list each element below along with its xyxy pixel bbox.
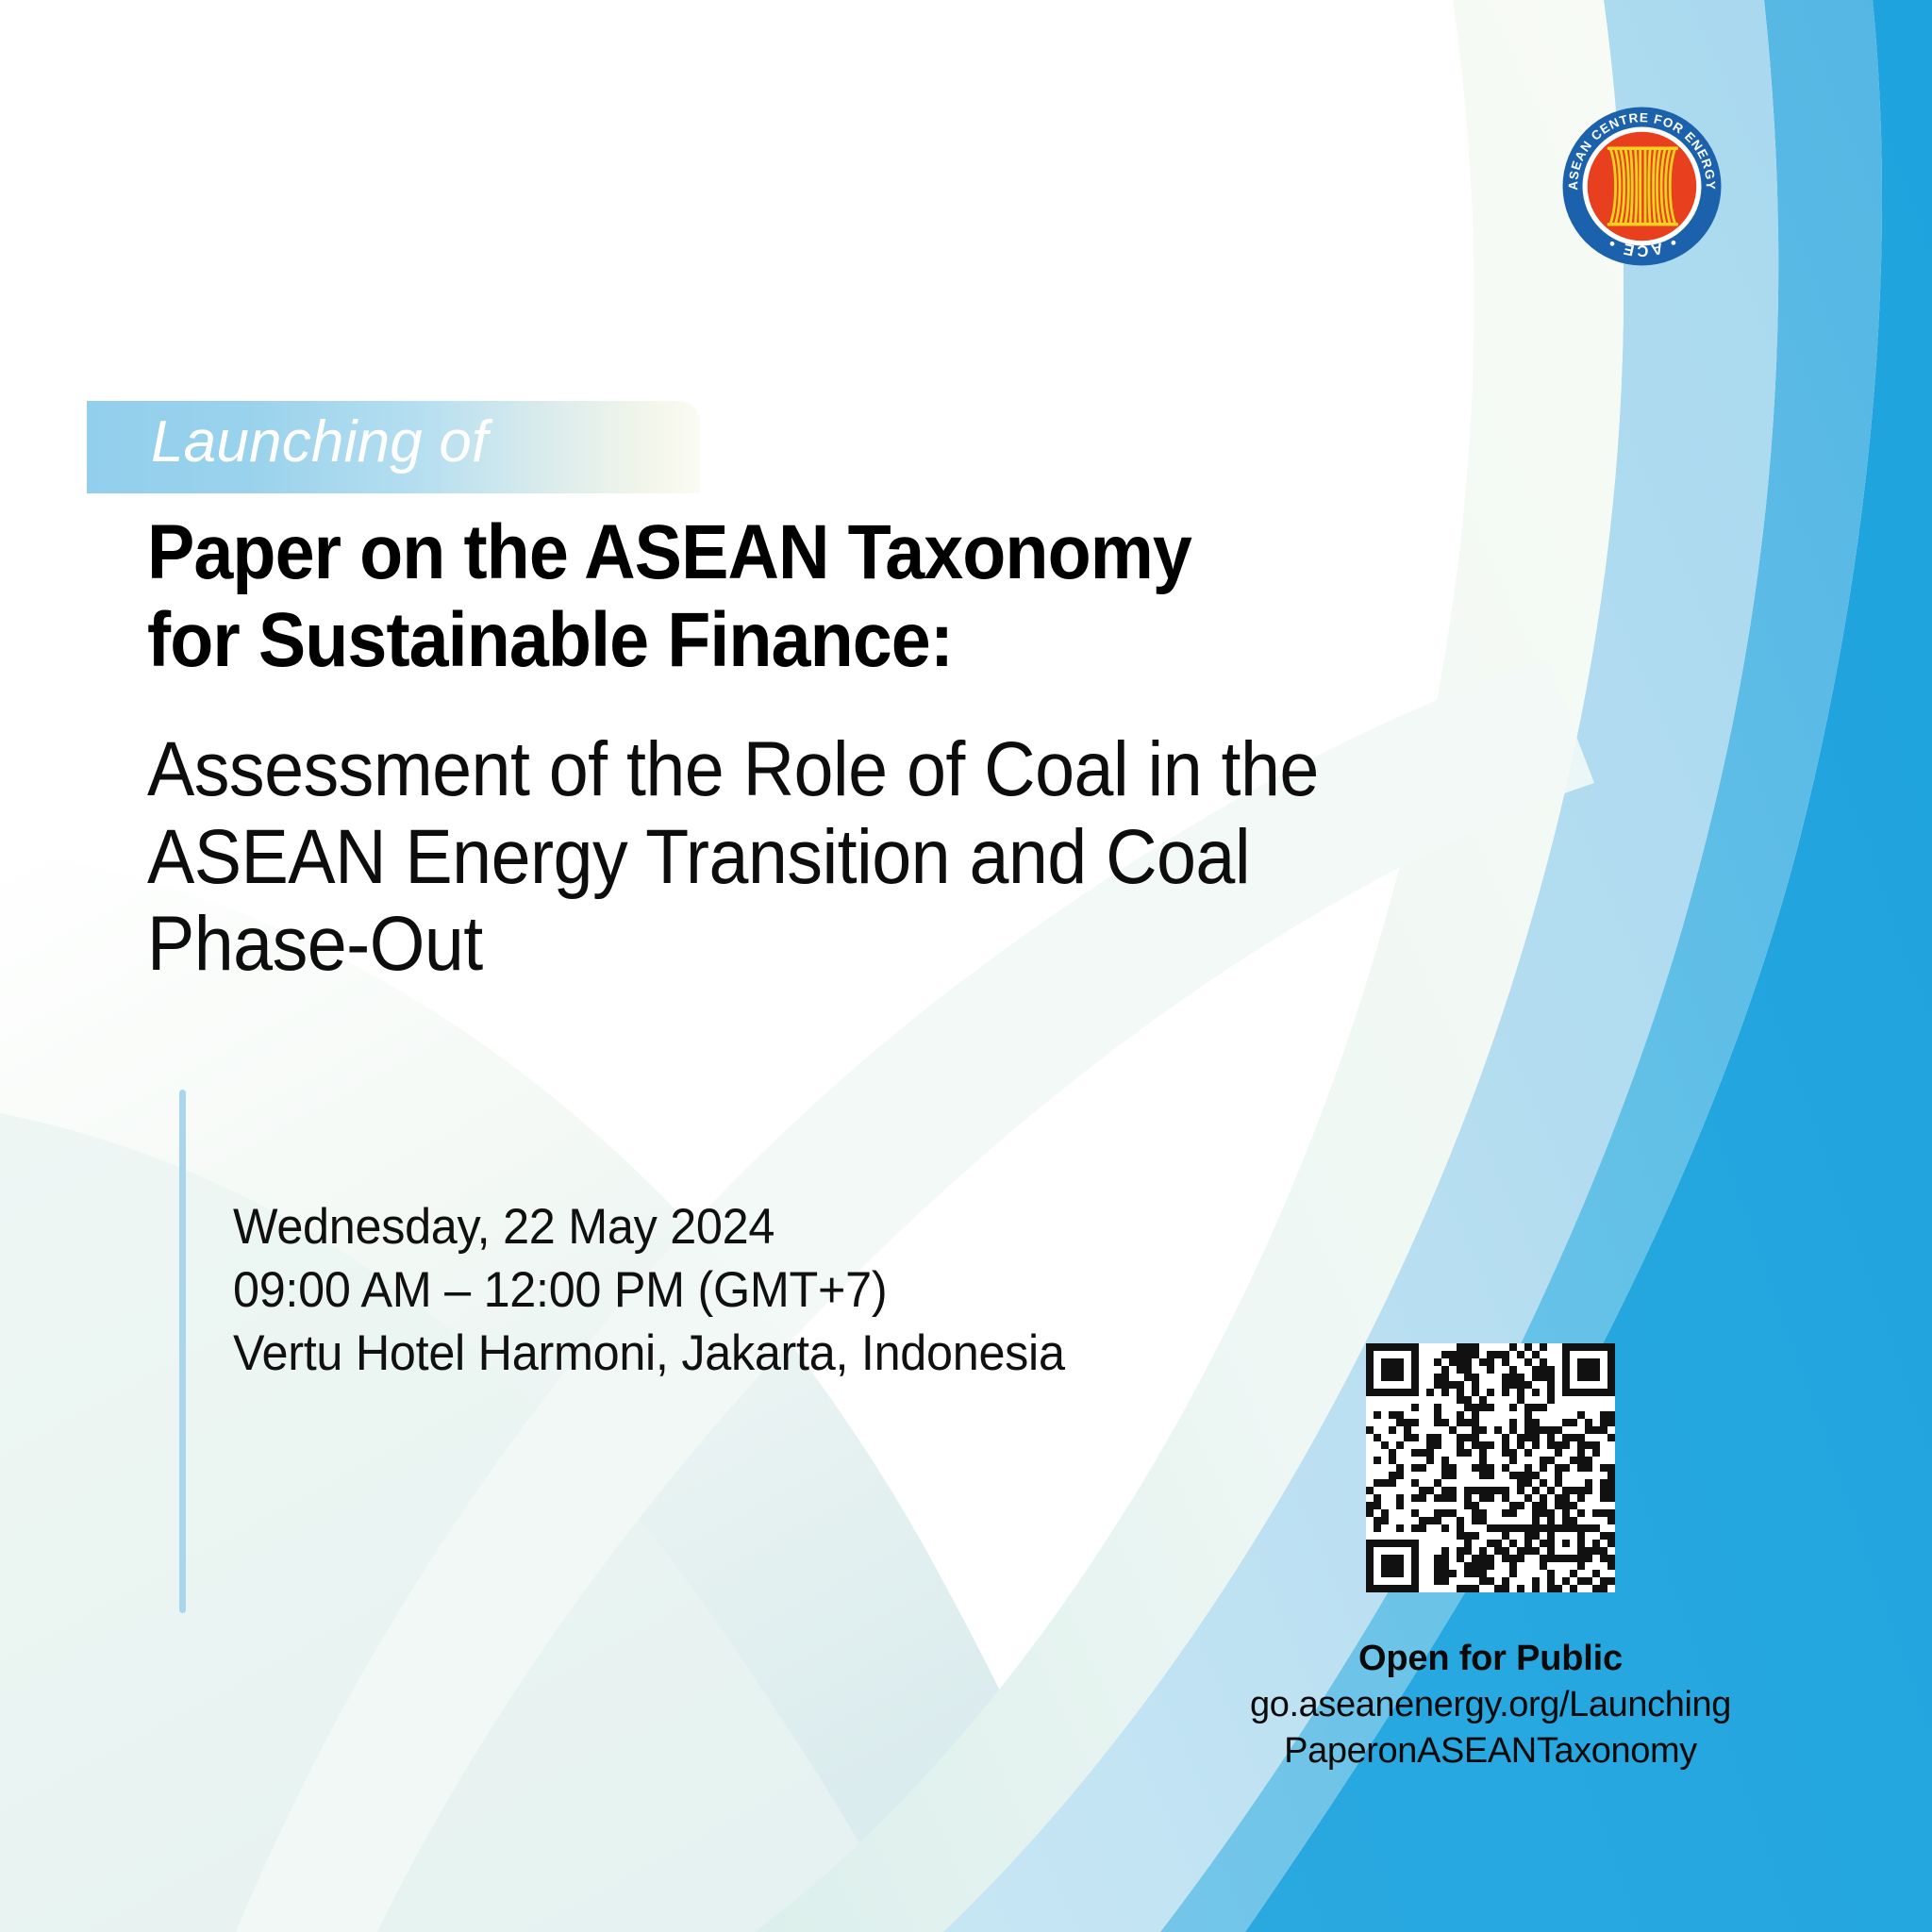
event-date: Wednesday, 22 May 2024 [233,1196,1065,1259]
eyebrow-label: Launching of [151,413,488,472]
qr-code[interactable] [1366,1343,1615,1592]
qr-caption: Open for Public go.aseanenergy.org/Launc… [1207,1637,1774,1774]
registration-url-line-2: PaperonASEANTaxonomy [1207,1728,1774,1774]
access-label: Open for Public [1207,1637,1774,1682]
registration-url-line-1: go.aseanenergy.org/Launching [1207,1682,1774,1728]
poster-canvas: ASEAN CENTRE FOR ENERGY • ACE • Launchin… [0,0,1932,1932]
accent-rule [179,1090,186,1613]
event-time: 09:00 AM – 12:00 PM (GMT+7) [233,1259,1065,1323]
page-title-subtitle: Assessment of the Role of Coal in the AS… [147,726,1666,989]
ace-logo: ASEAN CENTRE FOR ENERGY • ACE • [1559,104,1724,269]
page-title-bold: Paper on the ASEAN Taxonomy for Sustaina… [147,509,1536,684]
event-venue: Vertu Hotel Harmoni, Jakarta, Indonesia [233,1323,1065,1386]
event-details: Wednesday, 22 May 2024 09:00 AM – 12:00 … [233,1196,1065,1385]
